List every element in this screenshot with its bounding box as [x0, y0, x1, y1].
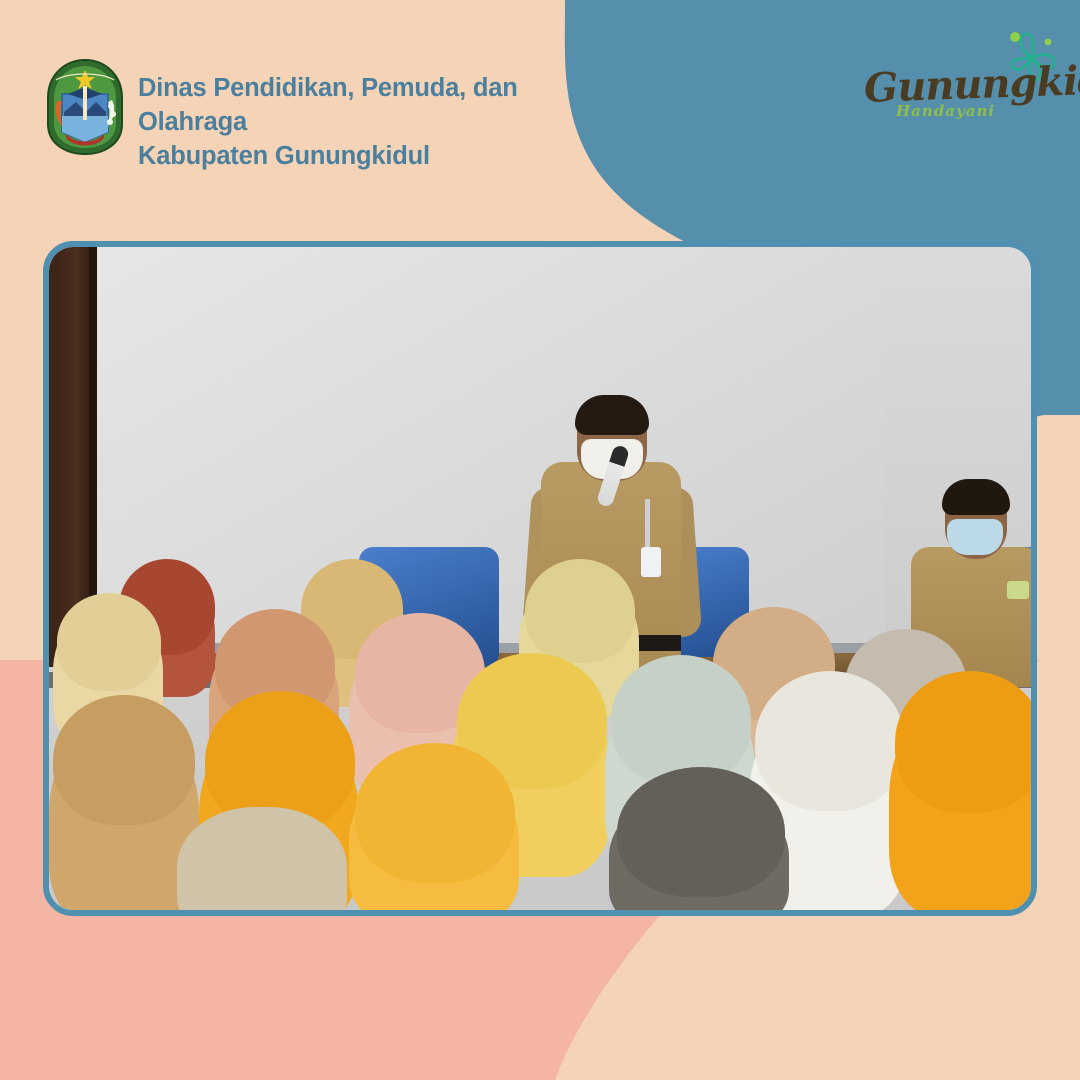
coat-of-arms-icon — [44, 58, 126, 156]
gunungkidul-brand-logo: Gunungkidul Handayani — [834, 20, 1064, 130]
audience-member — [617, 767, 785, 897]
brand-tagline: Handayani — [896, 102, 995, 120]
footer: @dikpora_gk pendidikan.gunungkidulkab.go… — [0, 940, 1080, 1080]
audience-member — [177, 807, 347, 910]
audience-member — [57, 593, 161, 691]
page-title: Dinas Pendidikan, Pemuda, dan Olahraga K… — [138, 72, 608, 174]
header: Dinas Pendidikan, Pemuda, dan Olahraga K… — [0, 0, 640, 190]
poster-canvas: Dinas Pendidikan, Pemuda, dan Olahraga K… — [0, 0, 1080, 1080]
seated-official-hair — [942, 479, 1010, 515]
title-line-2: Kabupaten Gunungkidul — [138, 140, 608, 174]
audience-member — [53, 695, 195, 825]
title-line-1: Dinas Pendidikan, Pemuda, dan Olahraga — [138, 74, 518, 136]
audience-member — [355, 743, 515, 883]
photo-frame — [43, 241, 1037, 916]
event-photo — [49, 247, 1031, 910]
uniform-patch — [1007, 581, 1029, 599]
speaker-id-badge — [641, 547, 661, 577]
speaker-lanyard — [645, 499, 650, 551]
audience-member — [525, 559, 635, 663]
audience-member — [611, 655, 751, 785]
audience-member — [895, 671, 1031, 813]
audience-member — [755, 671, 905, 811]
speaker-hair — [575, 395, 649, 435]
seated-official-face-mask — [947, 519, 1003, 555]
